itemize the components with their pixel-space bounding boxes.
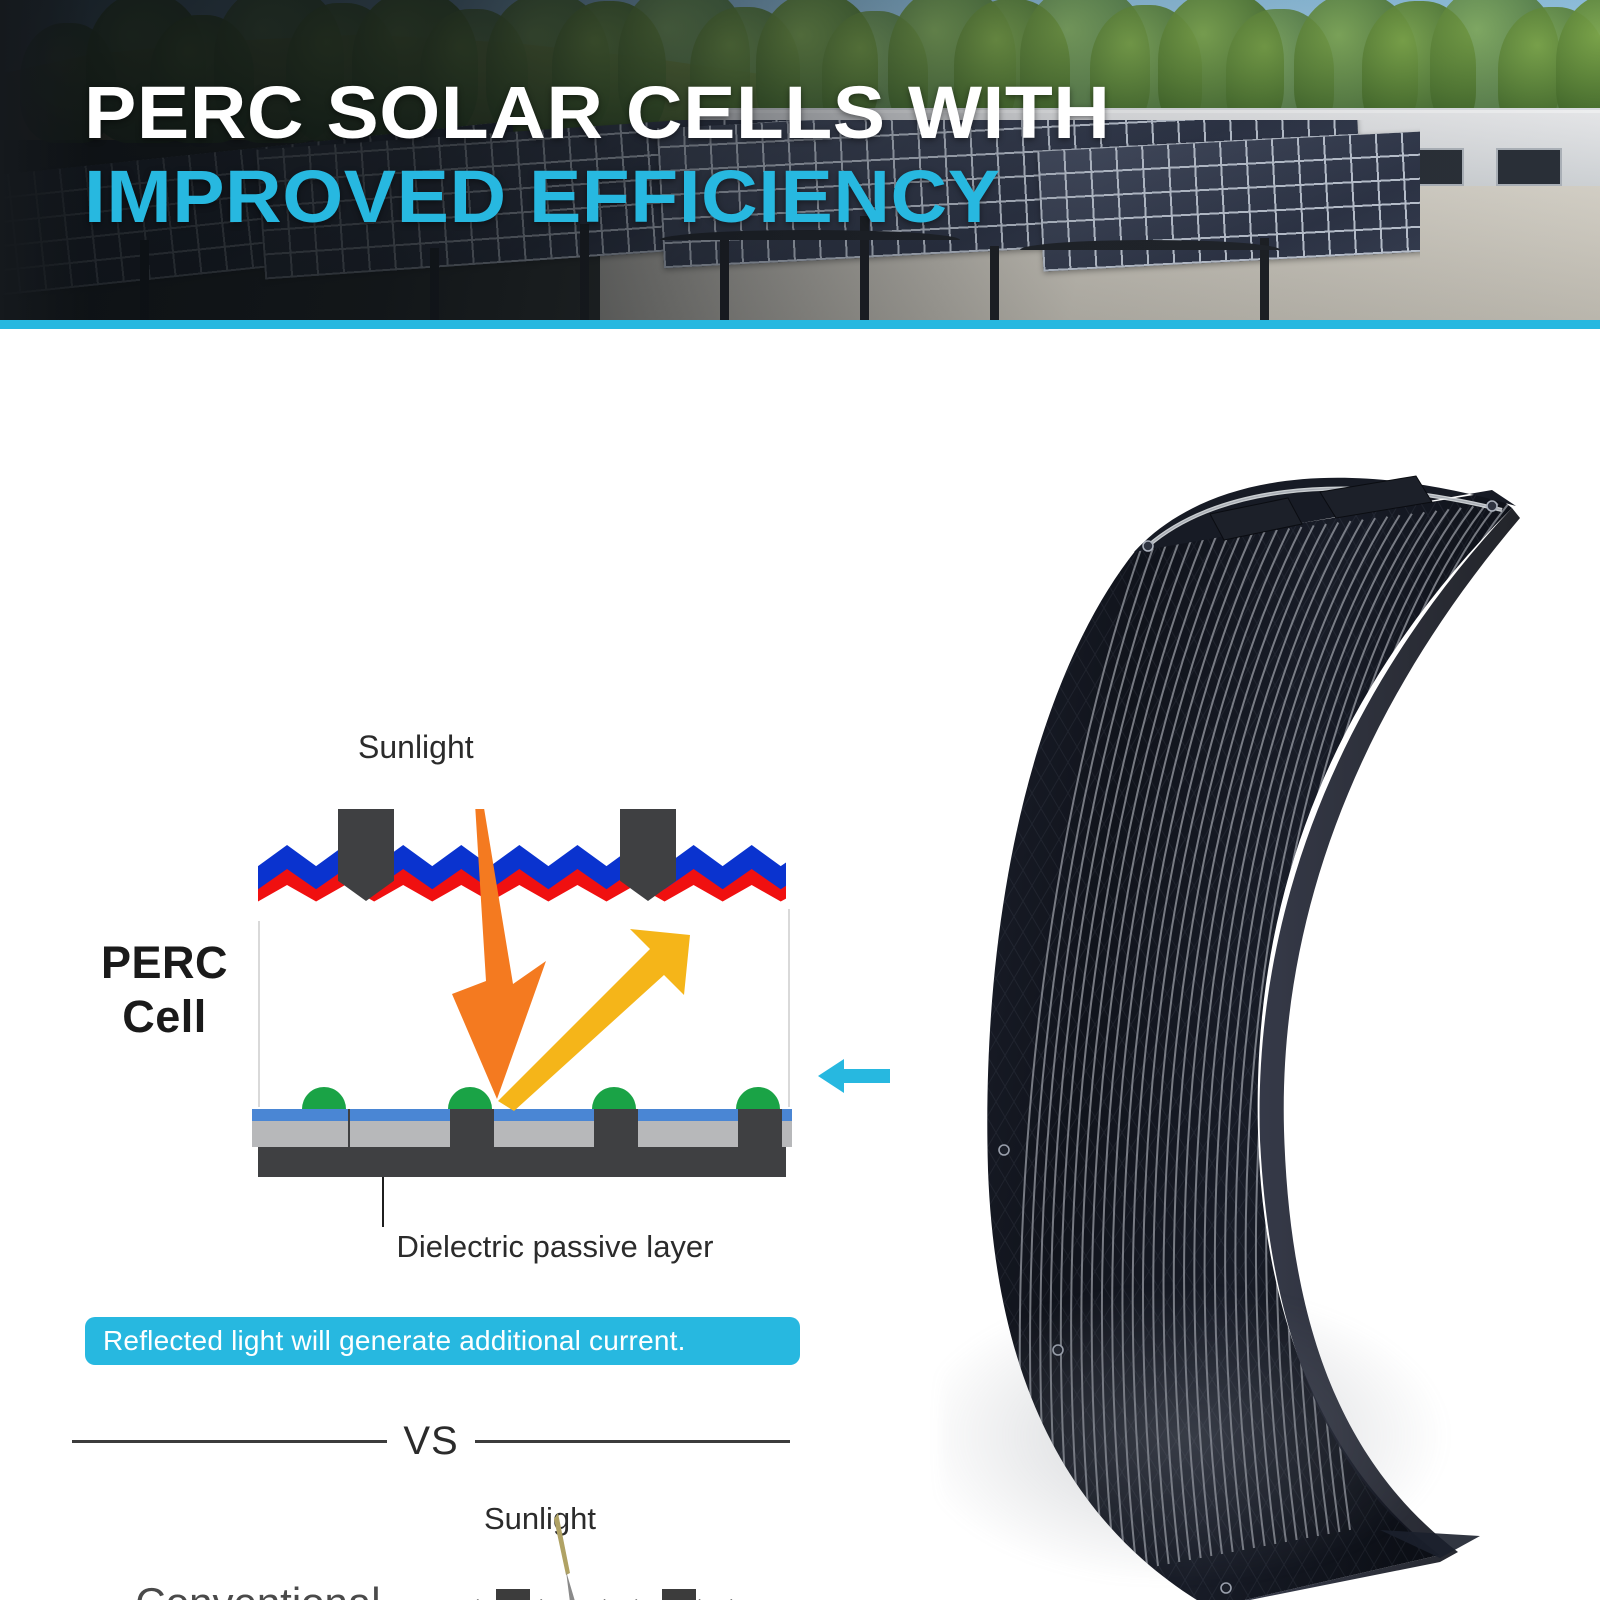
vs-rule-right (475, 1440, 790, 1443)
hero-banner: PERC SOLAR CELLS WITH IMPROVED EFFICIENC… (0, 0, 1600, 320)
perc-cell-label-line-2: Cell (72, 990, 257, 1044)
grommet (1487, 501, 1497, 511)
conventional-cell-label: Conventional Cell (98, 1577, 418, 1600)
panel-drop-shadow (940, 1280, 1460, 1580)
product-image-area (880, 340, 1600, 1600)
perc-cell-label: PERC Cell (72, 936, 257, 1044)
vs-rule-left (72, 1440, 387, 1443)
conventional-cell-label-line-1: Conventional (98, 1577, 418, 1600)
dielectric-passive-layer-label: Dielectric passive layer (0, 1229, 880, 1265)
rear-stack (258, 1091, 786, 1177)
perc-callout-text: Reflected light will generate additional… (103, 1325, 686, 1357)
perc-callout-badge: Reflected light will generate additional… (85, 1317, 800, 1365)
hero-title-line-1: PERC SOLAR CELLS WITH (84, 72, 1314, 154)
perc-cell-diagram (258, 809, 786, 1177)
vs-divider: VS (72, 1412, 790, 1470)
hero-left-fade (0, 0, 90, 320)
vs-label: VS (403, 1419, 458, 1464)
hero-title-line-2: IMPROVED EFFICIENCY (84, 154, 1314, 240)
dielectric-leader-line (382, 1177, 384, 1227)
grommet (999, 1145, 1009, 1155)
infographic-page: PERC SOLAR CELLS WITH IMPROVED EFFICIENC… (0, 0, 1600, 1600)
accent-strip (0, 320, 1600, 329)
hero-title: PERC SOLAR CELLS WITH IMPROVED EFFICIENC… (84, 72, 1244, 240)
grommet (1143, 541, 1153, 551)
conventional-light-ray-arrow (462, 1513, 750, 1600)
silicon-wafer-body (258, 909, 790, 1107)
conventional-cell-diagram (462, 1579, 750, 1600)
perc-sunlight-label: Sunlight (358, 729, 474, 766)
grommet (1221, 1583, 1231, 1593)
left-column: PERC Cell Sunlight Dielectric passive la (0, 329, 880, 1600)
perc-cell-label-line-1: PERC (72, 936, 257, 990)
